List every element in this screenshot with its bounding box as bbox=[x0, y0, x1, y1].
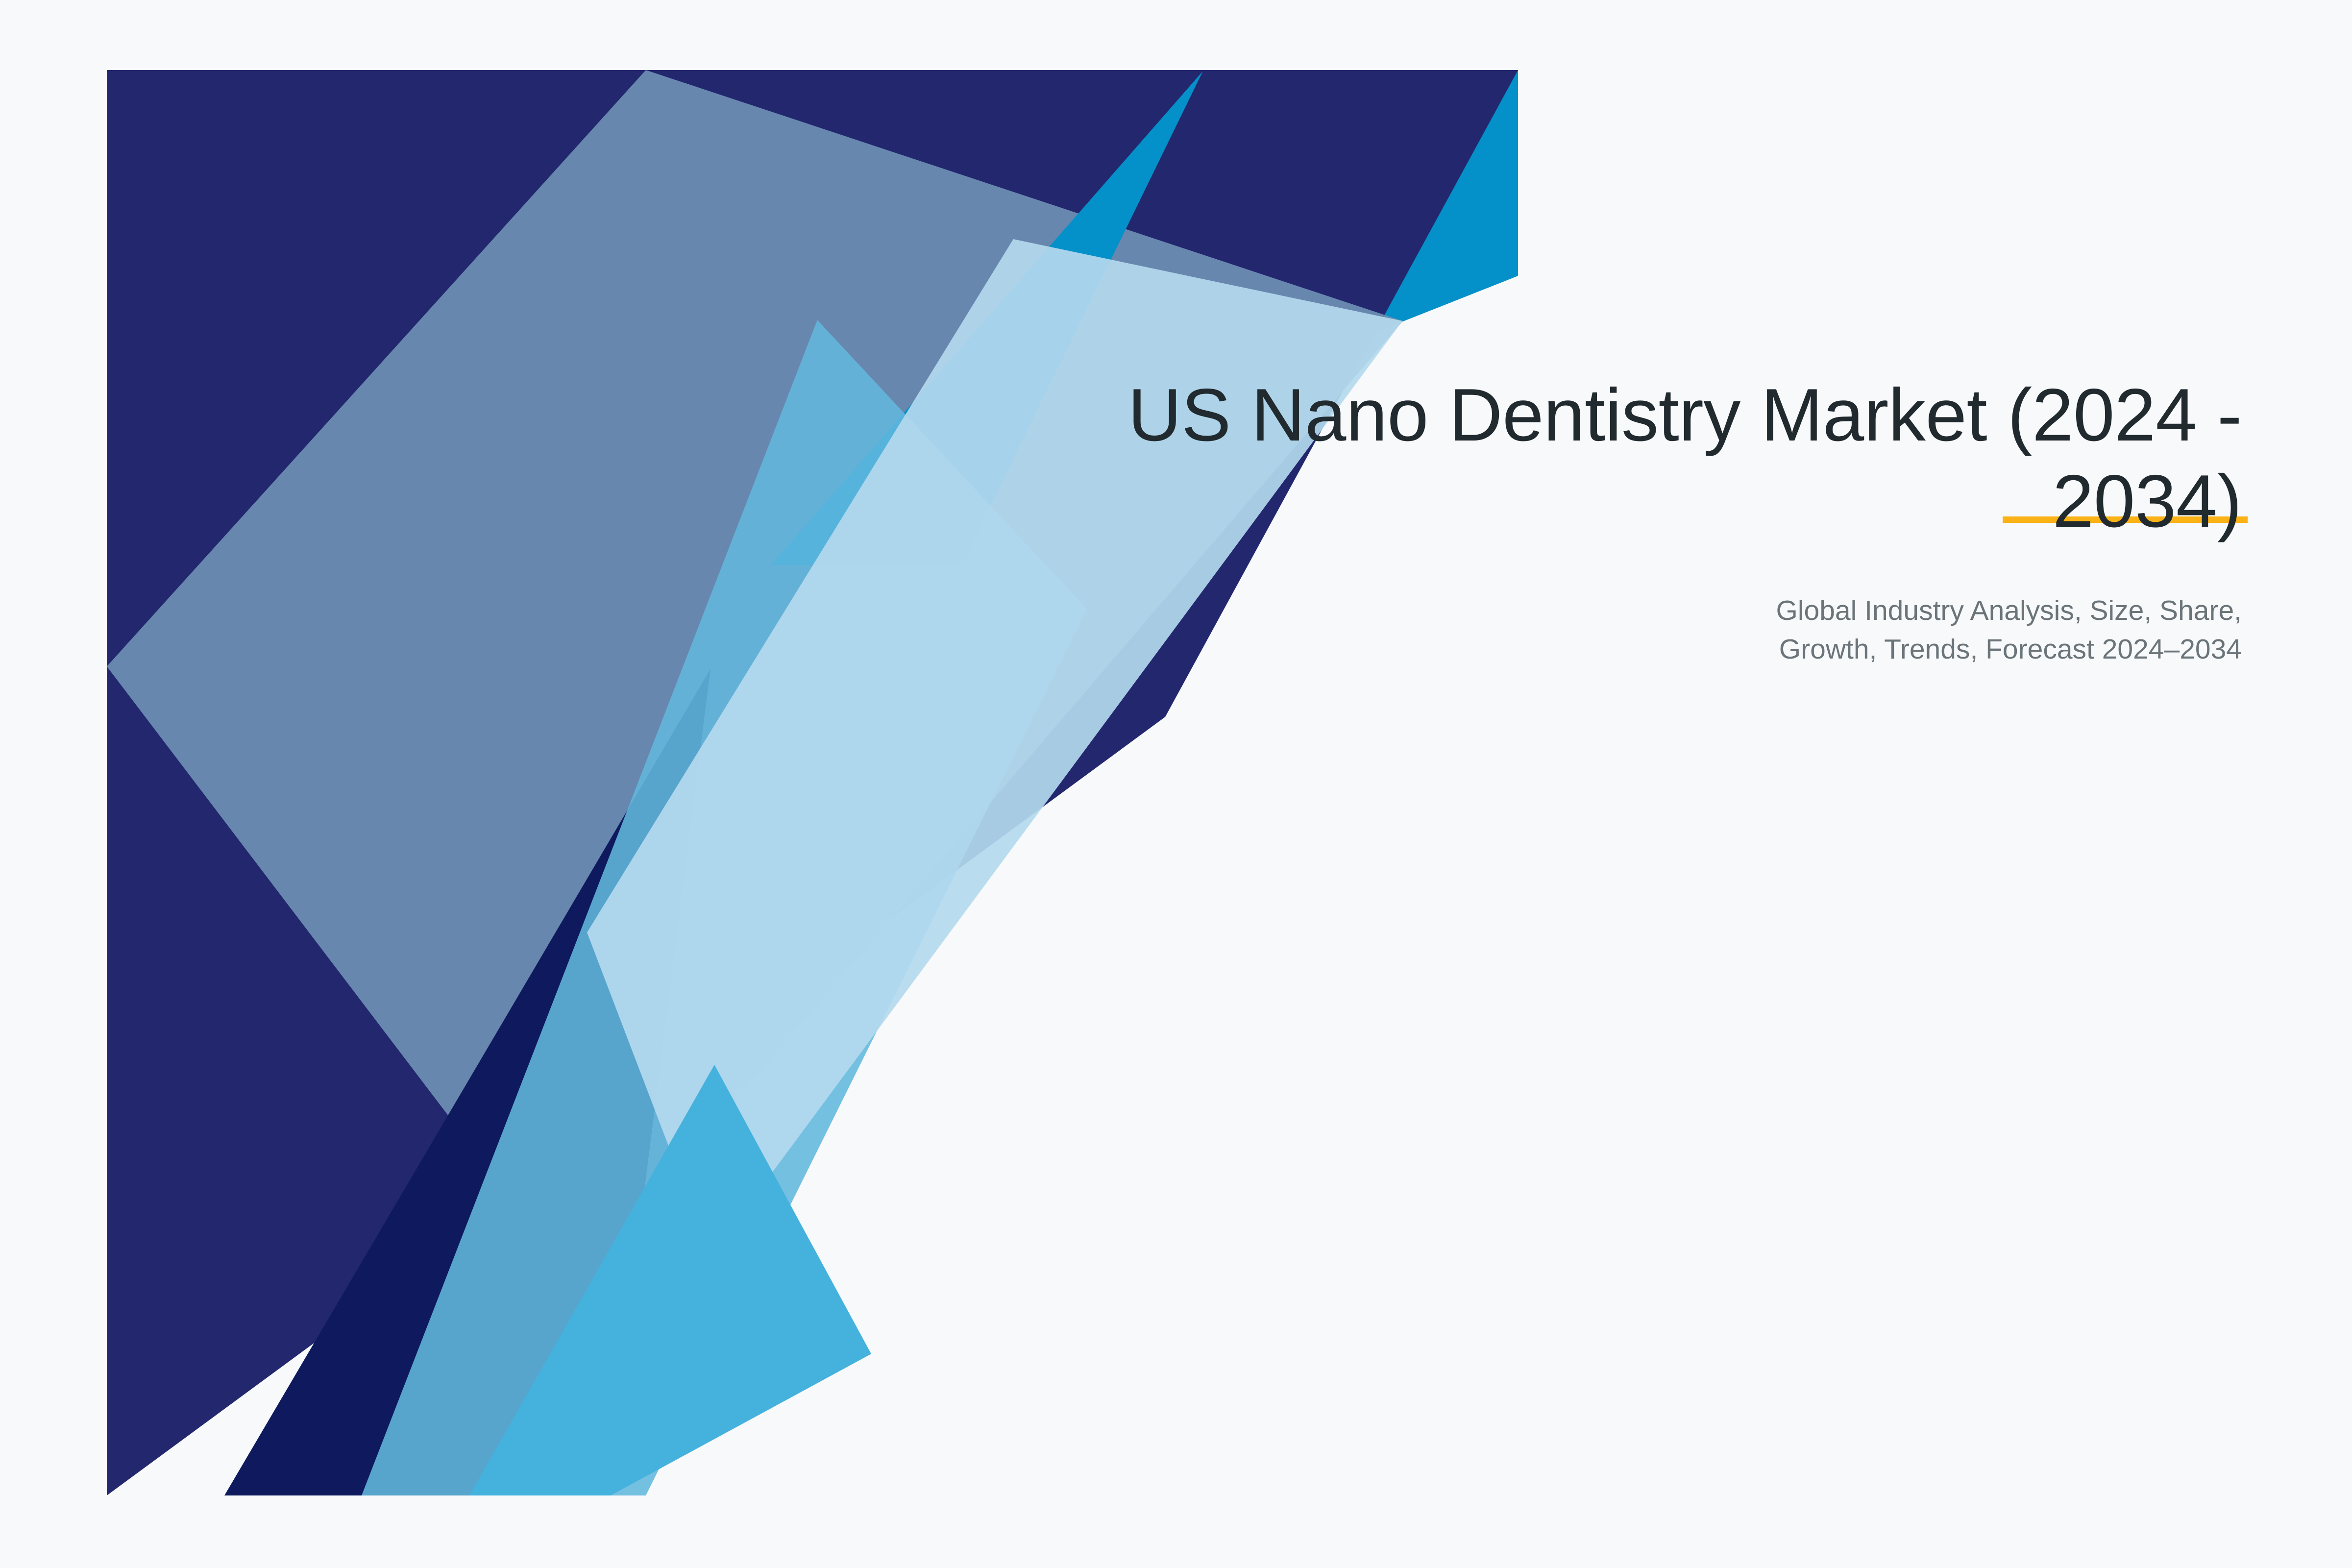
page-subtitle: Global Industry Analysis, Size, Share, G… bbox=[931, 544, 2242, 668]
artwork-shape-group bbox=[107, 70, 1518, 1495]
report-cover: US Nano Dentistry Market (2024 - 2034) G… bbox=[0, 0, 2352, 1568]
title-wrapper: US Nano Dentistry Market (2024 - 2034) bbox=[931, 372, 2242, 544]
abstract-geometric-banner-svg bbox=[107, 70, 1518, 1495]
cover-artwork bbox=[107, 70, 1518, 1495]
cover-text-block: US Nano Dentistry Market (2024 - 2034) G… bbox=[931, 372, 2242, 668]
page-title: US Nano Dentistry Market (2024 - 2034) bbox=[931, 372, 2242, 544]
